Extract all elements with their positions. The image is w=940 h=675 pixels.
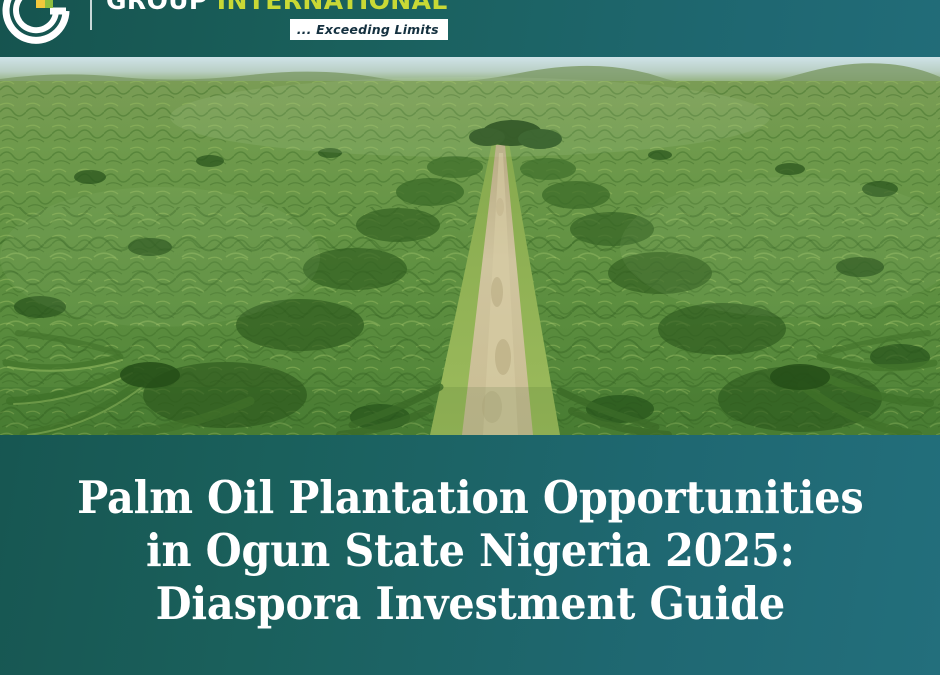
circular-g-monogram-icon[interactable]: [0, 0, 84, 44]
page-title-line-2: in Ogun State Nigeria 2025:: [77, 524, 863, 577]
brand-divider: [90, 0, 92, 30]
page-title: Palm Oil Plantation Opportunities in Ogu…: [77, 471, 863, 630]
post-title-block: Palm Oil Plantation Opportunities in Ogu…: [0, 435, 940, 675]
brand-lockup[interactable]: GROUP INTERNATIONAL ... Exceeding Limits: [0, 0, 448, 44]
brand-word-group: GROUP: [106, 0, 208, 15]
brand-wordmark-block: GROUP INTERNATIONAL ... Exceeding Limits: [106, 0, 448, 40]
brand-wordmark: GROUP INTERNATIONAL: [106, 0, 448, 13]
brand-tagline: ... Exceeding Limits: [290, 19, 448, 40]
brand-header: GROUP INTERNATIONAL ... Exceeding Limits: [0, 0, 940, 57]
blog-featured-image-card: GROUP INTERNATIONAL ... Exceeding Limits: [0, 0, 940, 675]
page-title-line-1: Palm Oil Plantation Opportunities: [77, 471, 863, 524]
palm-oil-plantation-aerial-photo: [0, 57, 940, 435]
brand-word-international: INTERNATIONAL: [217, 0, 448, 15]
page-title-line-3: Diaspora Investment Guide: [77, 577, 863, 630]
